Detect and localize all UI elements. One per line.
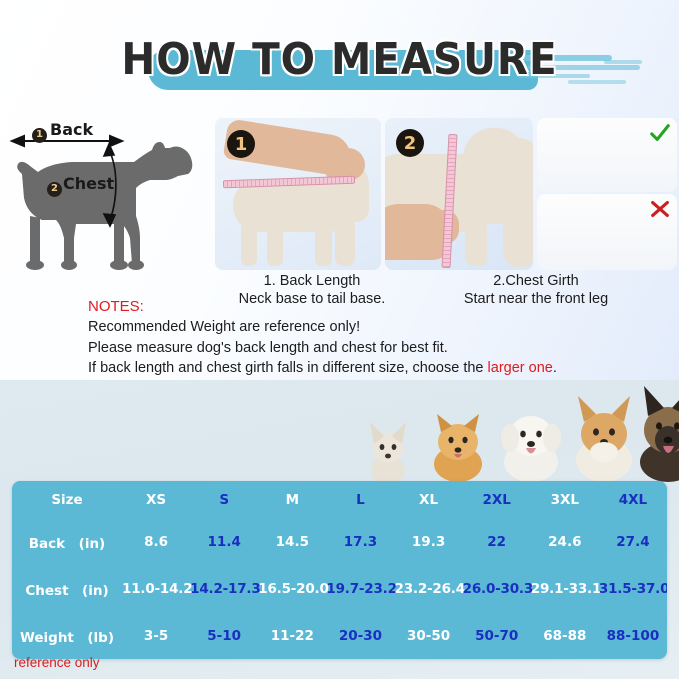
reference-only-note: reference only (14, 655, 100, 670)
cross-icon (649, 198, 671, 220)
cell-weight-l: 20-30 (326, 612, 394, 659)
title-banner: HOW TO MEASURE (0, 34, 679, 96)
cell-chest-4xl: 31.5-37.0 (599, 565, 667, 612)
badge-2-icon: 2 (47, 182, 62, 197)
row-label-chest: Chest (in) (12, 565, 122, 612)
back-length-photo: 1 (215, 118, 381, 270)
cell-back-m: 14.5 (258, 518, 326, 565)
notes-line-3: If back length and chest girth falls in … (88, 358, 648, 379)
cell-size-xs: XS (122, 481, 190, 518)
correct-measure-photo (537, 118, 677, 192)
chest-label: 2Chest (47, 174, 114, 197)
incorrect-measure-photo (537, 194, 677, 270)
back-label: 1Back (32, 120, 93, 143)
cell-weight-3xl: 68-88 (531, 612, 599, 659)
size-table: Size XS S M L XL 2XL 3XL 4XL Back (in) 8… (12, 481, 667, 659)
size-table-grid: Size XS S M L XL 2XL 3XL 4XL Back (in) 8… (12, 481, 667, 659)
cell-back-xs: 8.6 (122, 518, 190, 565)
cell-size-3xl: 3XL (531, 481, 599, 518)
measurement-diagram: 1Back 2Chest (2, 112, 214, 272)
dog-pomeranian-icon (425, 398, 491, 482)
badge-1-icon: 1 (32, 128, 47, 143)
notes-line-1: Recommended Weight are reference only! (88, 317, 648, 338)
row-label-size: Size (12, 481, 122, 518)
page-title: HOW TO MEASURE (27, 34, 652, 85)
notes-block: NOTES: Recommended Weight are reference … (88, 296, 648, 379)
cell-back-xl: 19.3 (395, 518, 463, 565)
cell-weight-2xl: 50-70 (463, 612, 531, 659)
cell-weight-m: 11-22 (258, 612, 326, 659)
cell-back-l: 17.3 (326, 518, 394, 565)
dog-corgi-icon (566, 388, 642, 482)
top-section: HOW TO MEASURE (0, 0, 679, 380)
chest-girth-photo: 2 (385, 118, 533, 270)
caption-back-title: 1. Back Length (212, 272, 412, 290)
row-label-weight: Weight (lb) (12, 612, 122, 659)
cell-chest-s: 14.2-17.3 (190, 565, 258, 612)
dog-bichon-icon (494, 394, 568, 482)
cell-chest-l: 19.7-23.2 (326, 565, 394, 612)
cell-back-s: 11.4 (190, 518, 258, 565)
badge-1-icon: 1 (227, 130, 255, 158)
dog-chihuahua-icon (360, 404, 416, 482)
notes-line-3-highlight: larger one (488, 360, 553, 376)
table-row-size: Size XS S M L XL 2XL 3XL 4XL (12, 481, 667, 518)
cell-size-m: M (258, 481, 326, 518)
cell-weight-xl: 30-50 (395, 612, 463, 659)
cell-back-3xl: 24.6 (531, 518, 599, 565)
cell-size-xl: XL (395, 481, 463, 518)
dog-german-shepherd-icon (640, 382, 679, 482)
badge-2-icon: 2 (396, 129, 424, 157)
notes-title: NOTES: (88, 296, 648, 317)
size-chart-page: HOW TO MEASURE (0, 0, 679, 679)
check-icon (649, 122, 671, 144)
row-label-back: Back (in) (12, 518, 122, 565)
cell-chest-xs: 11.0-14.2 (122, 565, 190, 612)
back-label-text: Back (50, 120, 93, 139)
dog-size-strip (0, 382, 679, 482)
table-row-back: Back (in) 8.6 11.4 14.5 17.3 19.3 22 24.… (12, 518, 667, 565)
cell-weight-xs: 3-5 (122, 612, 190, 659)
cell-back-4xl: 27.4 (599, 518, 667, 565)
cell-size-l: L (326, 481, 394, 518)
notes-line-3-pre: If back length and chest girth falls in … (88, 360, 488, 376)
cell-chest-xl: 23.2-26.4 (395, 565, 463, 612)
table-row-chest: Chest (in) 11.0-14.2 14.2-17.3 16.5-20.0… (12, 565, 667, 612)
cell-size-2xl: 2XL (463, 481, 531, 518)
cell-back-2xl: 22 (463, 518, 531, 565)
cell-size-4xl: 4XL (599, 481, 667, 518)
chest-label-text: Chest (63, 174, 114, 193)
cell-chest-2xl: 26.0-30.3 (463, 565, 531, 612)
cell-size-s: S (190, 481, 258, 518)
size-table-body: Size XS S M L XL 2XL 3XL 4XL Back (in) 8… (12, 481, 667, 659)
notes-line-3-post: . (553, 360, 557, 376)
cell-weight-s: 5-10 (190, 612, 258, 659)
cell-chest-3xl: 29.1-33.1 (531, 565, 599, 612)
table-row-weight: Weight (lb) 3-5 5-10 11-22 20-30 30-50 5… (12, 612, 667, 659)
caption-chest-title: 2.Chest Girth (430, 272, 642, 290)
cell-chest-m: 16.5-20.0 (258, 565, 326, 612)
cell-weight-4xl: 88-100 (599, 612, 667, 659)
notes-line-2: Please measure dog's back length and che… (88, 338, 648, 359)
